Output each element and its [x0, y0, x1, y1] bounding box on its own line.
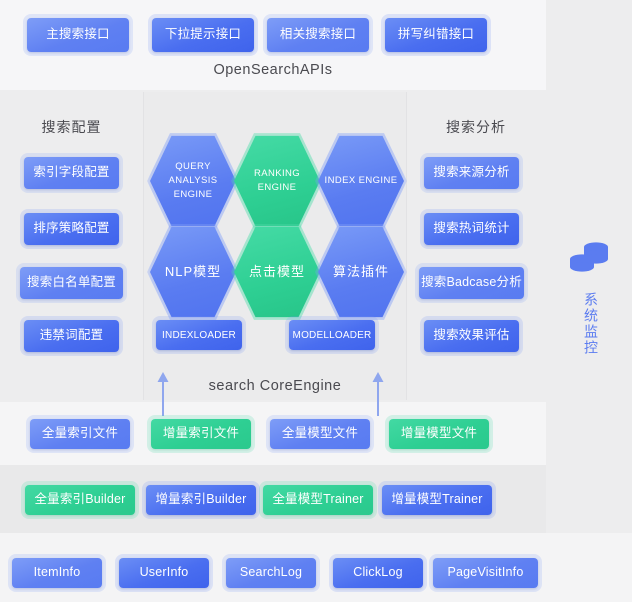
api-chip-main-search[interactable]: 主搜索接口	[27, 18, 129, 52]
monitor-section-label: 系统监控	[578, 292, 600, 356]
builder-chip-incremental-index[interactable]: 增量索引Builder	[146, 485, 256, 515]
config-chip-index-field[interactable]: 索引字段配置	[24, 157, 119, 189]
file-chip-full-index[interactable]: 全量索引文件	[30, 419, 130, 449]
arrow-index-loader-up	[156, 372, 170, 416]
loader-chip-index[interactable]: INDEXLOADER	[156, 320, 242, 350]
api-band-label: OpenSearchAPIs	[0, 62, 546, 78]
file-chip-incremental-index[interactable]: 增量索引文件	[151, 419, 251, 449]
source-chip-page-visit-info[interactable]: PageVisitInfo	[433, 558, 538, 588]
source-chip-click-log[interactable]: ClickLog	[333, 558, 423, 588]
config-chip-whitelist[interactable]: 搜索白名单配置	[20, 267, 123, 299]
api-chip-suggest[interactable]: 下拉提示接口	[152, 18, 254, 52]
config-section-title: 搜索配置	[0, 117, 143, 137]
source-chip-search-log[interactable]: SearchLog	[226, 558, 316, 588]
api-chip-spell-correction[interactable]: 拼写纠错接口	[385, 18, 487, 52]
file-chip-incremental-model[interactable]: 增量模型文件	[389, 419, 489, 449]
source-chip-item-info[interactable]: ItemInfo	[12, 558, 102, 588]
analysis-chip-effectiveness[interactable]: 搜索效果评估	[424, 320, 519, 352]
arrow-model-loader-up	[371, 372, 385, 416]
database-stack-icon	[566, 238, 614, 282]
api-chip-related-search[interactable]: 相关搜索接口	[267, 18, 369, 52]
source-chip-user-info[interactable]: UserInfo	[119, 558, 209, 588]
config-chip-rank-strategy[interactable]: 排序策略配置	[24, 213, 119, 245]
analysis-chip-hot-words[interactable]: 搜索热词统计	[424, 213, 519, 245]
file-chip-full-model[interactable]: 全量模型文件	[270, 419, 370, 449]
analysis-chip-source[interactable]: 搜索来源分析	[424, 157, 519, 189]
builder-chip-full-index[interactable]: 全量索引Builder	[25, 485, 135, 515]
analysis-chip-badcase[interactable]: 搜索Badcase分析	[419, 267, 524, 299]
architecture-diagram: 主搜索接口 下拉提示接口 相关搜索接口 拼写纠错接口 OpenSearchAPI…	[0, 0, 632, 602]
core-divider-left	[143, 92, 144, 400]
loader-chip-model[interactable]: MODELLOADER	[289, 320, 375, 350]
core-band-label: search CoreEngine	[144, 378, 406, 394]
builder-chip-full-model-trainer[interactable]: 全量模型Trainer	[263, 485, 373, 515]
analysis-section-title: 搜索分析	[406, 117, 546, 137]
config-chip-banned-words[interactable]: 违禁词配置	[24, 320, 119, 352]
core-divider-right	[406, 92, 407, 400]
builder-chip-incremental-model-trainer[interactable]: 增量模型Trainer	[382, 485, 492, 515]
